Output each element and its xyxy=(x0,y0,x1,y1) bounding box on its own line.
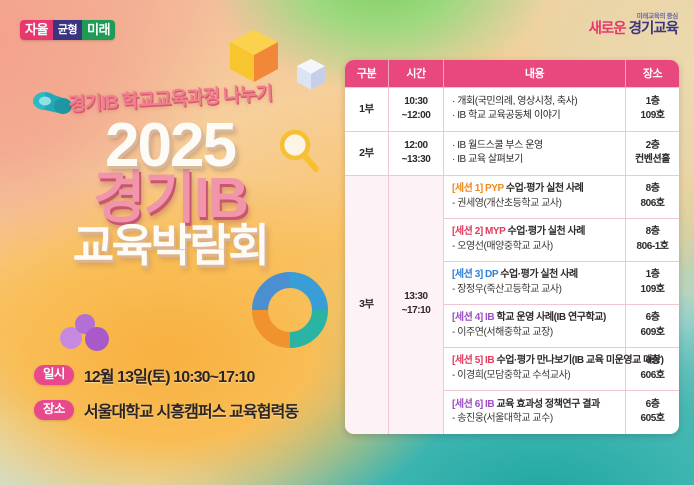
event-title-sub: 교육박람회 xyxy=(0,223,340,268)
schedule-table-body: 1부10:30~12:00· 개회(국민의례, 영상시청, 축사)· IB 학교… xyxy=(345,88,679,434)
cell-content: [세션 3] DP 수업·평가 실천 사례- 장정우(죽산고등학교 교사) xyxy=(444,262,626,305)
cell-location: 1층109호 xyxy=(626,88,679,132)
yellow-cube-decoration xyxy=(228,28,280,84)
cell-location: 6층605호 xyxy=(626,391,679,434)
slogan-part-balance: 균형 xyxy=(53,20,82,40)
slogan-part-future: 미래 xyxy=(82,20,115,40)
session-title: 수업·평가 실천 사례 xyxy=(504,183,584,194)
session-title: 수업·평가 실천 사례 xyxy=(505,226,585,237)
session-speaker: - 이경희(모담중학교 수석교사) xyxy=(452,369,620,383)
cell-content: [세션 2] MYP 수업·평가 실천 사례- 오영선(매양중학교 교사) xyxy=(444,219,626,262)
content-line: · IB 교육 살펴보기 xyxy=(452,153,620,167)
session-tag: [세션 3] DP xyxy=(452,269,498,280)
cell-content: [세션 5] IB 수업·평가 만나보기(IB 교육 미운영교 대상)- 이경희… xyxy=(444,348,626,391)
cell-location: 2층컨벤션홀 xyxy=(626,132,679,176)
col-header-division: 구분 xyxy=(345,60,388,88)
event-place-value: 서울대학교 시흥캠퍼스 교육협력동 xyxy=(84,398,298,422)
col-header-time: 시간 xyxy=(388,60,443,88)
content-line: · IB 월드스쿨 부스 운영 xyxy=(452,139,620,153)
event-date-value: 12월 13일(토) 10:30~17:10 xyxy=(84,363,255,387)
session-tag: [세션 1] PYP xyxy=(452,183,504,194)
cell-content: [세션 6] IB 교육 효과성 정책연구 결과- 송진웅(서울대학교 교수) xyxy=(444,391,626,434)
session-title: 교육 효과성 정책연구 결과 xyxy=(494,399,600,410)
session-title: 학교 운영 사례(IB 연구학교) xyxy=(494,312,606,323)
session-title-line: [세션 6] IB 교육 효과성 정책연구 결과 xyxy=(452,398,620,412)
session-title: 수업·평가 만나보기(IB 교육 미운영교 대상) xyxy=(494,355,663,366)
schedule-table-container: 구분 시간 내용 장소 1부10:30~12:00· 개회(국민의례, 영상시청… xyxy=(345,60,679,434)
place-label-badge: 장소 xyxy=(34,400,74,420)
cell-content: · 개회(국민의례, 영상시청, 축사)· IB 학교 교육공동체 이야기 xyxy=(444,88,626,132)
event-info-block: 일시 12월 13일(토) 10:30~17:10 장소 서울대학교 시흥캠퍼스… xyxy=(34,363,298,433)
brand-tagline: 미래교육의 중심 xyxy=(589,14,678,21)
cell-time: 13:30~17:10 xyxy=(388,176,443,434)
session-speaker: - 권세영(개산초등학교 교사) xyxy=(452,197,620,211)
session-speaker: - 장정우(죽산고등학교 교사) xyxy=(452,283,620,297)
cell-content: [세션 1] PYP 수업·평가 실천 사례- 권세영(개산초등학교 교사) xyxy=(444,176,626,219)
brand-name-part2: 경기교육 xyxy=(629,21,678,37)
session-title: 수업·평가 실천 사례 xyxy=(498,269,578,280)
session-speaker: - 오영선(매양중학교 교사) xyxy=(452,240,620,254)
session-title-line: [세션 2] MYP 수업·평가 실천 사례 xyxy=(452,225,620,239)
session-title-line: [세션 1] PYP 수업·평가 실천 사례 xyxy=(452,182,620,196)
magnifier-icon xyxy=(276,128,322,174)
cell-location: 8층806-1호 xyxy=(626,219,679,262)
cell-division: 3부 xyxy=(345,176,388,434)
event-year-row: 2025 xyxy=(0,116,340,176)
table-row: 1부10:30~12:00· 개회(국민의례, 영상시청, 축사)· IB 학교… xyxy=(345,88,679,132)
purple-molecule-decoration xyxy=(55,312,110,354)
session-tag: [세션 5] IB xyxy=(452,355,494,366)
brand-name-part1: 새로운 xyxy=(589,21,626,37)
cell-location: 6층606호 xyxy=(626,348,679,391)
cell-division: 2부 xyxy=(345,132,388,176)
event-year: 2025 xyxy=(105,116,235,176)
cell-content: · IB 월드스쿨 부스 운영· IB 교육 살펴보기 xyxy=(444,132,626,176)
table-header-row: 구분 시간 내용 장소 xyxy=(345,60,679,88)
cell-time: 10:30~12:00 xyxy=(388,88,443,132)
cell-time: 12:00~13:30 xyxy=(388,132,443,176)
session-speaker: - 송진웅(서울대학교 교수) xyxy=(452,412,620,426)
schedule-table: 구분 시간 내용 장소 1부10:30~12:00· 개회(국민의례, 영상시청… xyxy=(345,60,679,434)
table-row: 3부13:30~17:10[세션 1] PYP 수업·평가 실천 사례- 권세영… xyxy=(345,176,679,219)
col-header-location: 장소 xyxy=(626,60,679,88)
content-line: · 개회(국민의례, 영상시청, 축사) xyxy=(452,95,620,109)
cell-location: 6층609호 xyxy=(626,305,679,348)
session-title-line: [세션 4] IB 학교 운영 사례(IB 연구학교) xyxy=(452,311,620,325)
session-tag: [세션 6] IB xyxy=(452,399,494,410)
slogan-part-autonomy: 자율 xyxy=(20,20,53,40)
col-header-content: 내용 xyxy=(444,60,626,88)
date-label-badge: 일시 xyxy=(34,365,74,385)
poster-headline: 경기IB 학교교육과정 나누기 2025 경기IB 교육박람회 xyxy=(0,84,340,268)
cell-location: 8층806호 xyxy=(626,176,679,219)
table-row: 2부12:00~13:30· IB 월드스쿨 부스 운영· IB 교육 살펴보기… xyxy=(345,132,679,176)
gyeonggi-education-brand: 미래교육의 중심 새로운 경기교육 xyxy=(589,14,678,37)
event-place-row: 장소 서울대학교 시흥캠퍼스 교육협력동 xyxy=(34,398,298,422)
session-title-line: [세션 5] IB 수업·평가 만나보기(IB 교육 미운영교 대상) xyxy=(452,354,620,368)
brand-name: 새로운 경기교육 xyxy=(589,22,678,37)
content-line: · IB 학교 교육공동체 이야기 xyxy=(452,109,620,123)
session-title-line: [세션 3] DP 수업·평가 실천 사례 xyxy=(452,268,620,282)
schedule-table-head: 구분 시간 내용 장소 xyxy=(345,60,679,88)
session-tag: [세션 4] IB xyxy=(452,312,494,323)
event-date-row: 일시 12월 13일(토) 10:30~17:10 xyxy=(34,363,298,387)
cell-division: 1부 xyxy=(345,88,388,132)
session-tag: [세션 2] MYP xyxy=(452,226,505,237)
cell-location: 1층109호 xyxy=(626,262,679,305)
event-poster: 자율 균형 미래 미래교육의 중심 새로운 경기교육 경기IB 학교교육과정 나… xyxy=(0,0,694,485)
colorful-ring-decoration xyxy=(252,272,328,348)
cell-content: [세션 4] IB 학교 운영 사례(IB 연구학교)- 이주연(서해중학교 교… xyxy=(444,305,626,348)
gyeonggi-slogan-logo: 자율 균형 미래 xyxy=(20,20,115,40)
session-speaker: - 이주연(서해중학교 교장) xyxy=(452,326,620,340)
